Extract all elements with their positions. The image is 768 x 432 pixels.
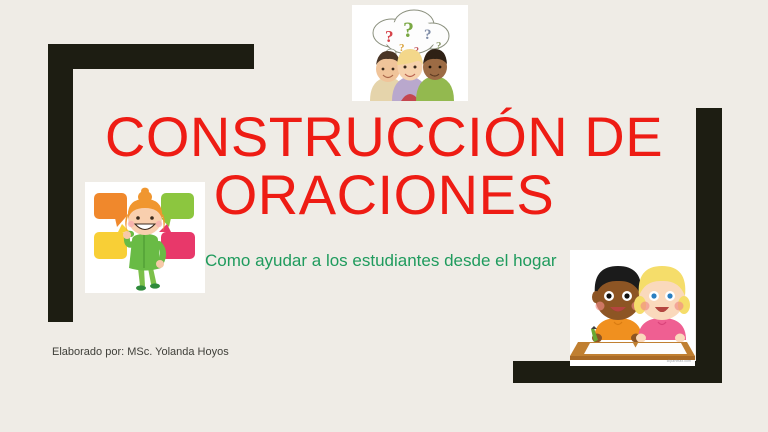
image-watermark: clipartmax.com (667, 359, 691, 363)
svg-text:?: ? (424, 27, 432, 43)
author-credit: Elaborado por: MSc. Yolanda Hoyos (52, 345, 229, 359)
svg-text:?: ? (385, 27, 394, 46)
presentation-slide: ? ? ? ? ? ? (0, 0, 768, 432)
page-subtitle: Como ayudar a los estudiantes desde el h… (205, 250, 557, 272)
svg-text:?: ? (403, 17, 414, 42)
children-writing-image: clipartmax.com (570, 250, 695, 366)
frame-bar-top-left-horizontal (48, 44, 254, 69)
thinking-people-image: ? ? ? ? ? ? (352, 5, 468, 101)
page-title: CONSTRUCCIÓN DE ORACIONES (0, 108, 768, 224)
